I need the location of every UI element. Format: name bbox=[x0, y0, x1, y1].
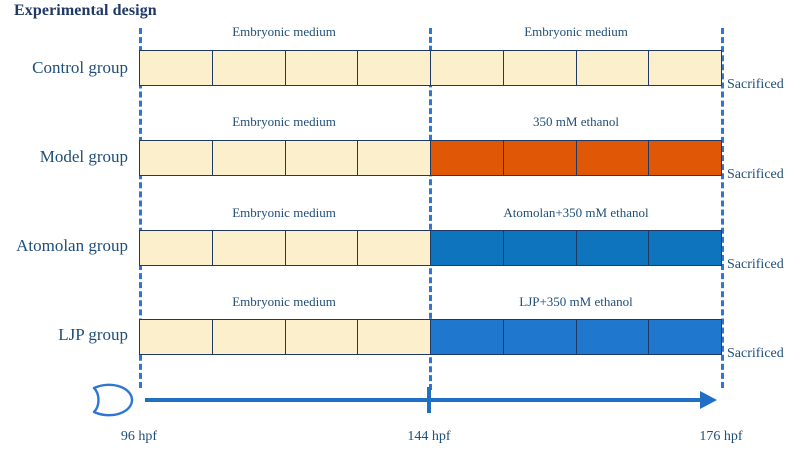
sacrificed-label-ljp: Sacrificed bbox=[727, 346, 784, 362]
bar-cell bbox=[285, 50, 359, 86]
timeline-arrowhead bbox=[700, 391, 717, 409]
bar-cell bbox=[285, 140, 359, 176]
bar-cell bbox=[357, 319, 431, 355]
axis-label-144hpf: 144 hpf bbox=[389, 429, 469, 445]
bar-cell bbox=[212, 50, 286, 86]
zebrafish-icon bbox=[82, 378, 140, 422]
bar-cell bbox=[648, 319, 722, 355]
phase1-caption-atomolan: Embryonic medium bbox=[139, 205, 429, 221]
bar-cell bbox=[576, 230, 650, 266]
bar-cell bbox=[576, 319, 650, 355]
bar-cell bbox=[357, 140, 431, 176]
bar-cell bbox=[212, 319, 286, 355]
bar-cell bbox=[648, 50, 722, 86]
bar-cell bbox=[212, 230, 286, 266]
bar-cell bbox=[576, 140, 650, 176]
row-label-atomolan: Atomolan group bbox=[0, 236, 128, 256]
bar-cell bbox=[212, 140, 286, 176]
row-label-model: Model group bbox=[0, 147, 128, 167]
bar-cell bbox=[648, 230, 722, 266]
timeline-tick-144hpf bbox=[427, 387, 431, 413]
bar-cell bbox=[285, 319, 359, 355]
bar-cell bbox=[430, 319, 504, 355]
bar-cell bbox=[139, 140, 213, 176]
phase1-caption-ljp: Embryonic medium bbox=[139, 294, 429, 310]
bar-cell bbox=[503, 140, 577, 176]
phase2-caption-atomolan: Atomolan+350 mM ethanol bbox=[431, 205, 721, 221]
sacrificed-label-model: Sacrificed bbox=[727, 167, 784, 183]
row-label-ljp: LJP group bbox=[0, 325, 128, 345]
bar-cell bbox=[503, 230, 577, 266]
sacrificed-label-atomolan: Sacrificed bbox=[727, 257, 784, 273]
bar-cell bbox=[430, 50, 504, 86]
bar-cell bbox=[357, 230, 431, 266]
bar-cell bbox=[430, 230, 504, 266]
timeline-bar-atomolan bbox=[139, 230, 722, 266]
axis-label-96hpf: 96 hpf bbox=[99, 429, 179, 445]
timeline-bar-control bbox=[139, 50, 722, 86]
row-label-control: Control group bbox=[0, 58, 128, 78]
phase2-caption-control: Embryonic medium bbox=[431, 24, 721, 40]
bar-cell bbox=[139, 50, 213, 86]
bar-cell bbox=[430, 140, 504, 176]
page-title: Experimental design bbox=[14, 2, 157, 20]
bar-cell bbox=[503, 50, 577, 86]
bar-cell bbox=[139, 230, 213, 266]
phase2-caption-ljp: LJP+350 mM ethanol bbox=[431, 294, 721, 310]
timeline-bar-model bbox=[139, 140, 722, 176]
sacrificed-label-control: Sacrificed bbox=[727, 77, 784, 93]
experimental-design-figure: Experimental design Control group Embryo… bbox=[0, 0, 798, 451]
bar-cell bbox=[139, 319, 213, 355]
bar-cell bbox=[285, 230, 359, 266]
axis-label-176hpf: 176 hpf bbox=[681, 429, 761, 445]
phase2-caption-model: 350 mM ethanol bbox=[431, 114, 721, 130]
timeline-bar-ljp bbox=[139, 319, 722, 355]
phase1-caption-model: Embryonic medium bbox=[139, 114, 429, 130]
bar-cell bbox=[648, 140, 722, 176]
bar-cell bbox=[357, 50, 431, 86]
phase1-caption-control: Embryonic medium bbox=[139, 24, 429, 40]
bar-cell bbox=[576, 50, 650, 86]
bar-cell bbox=[503, 319, 577, 355]
